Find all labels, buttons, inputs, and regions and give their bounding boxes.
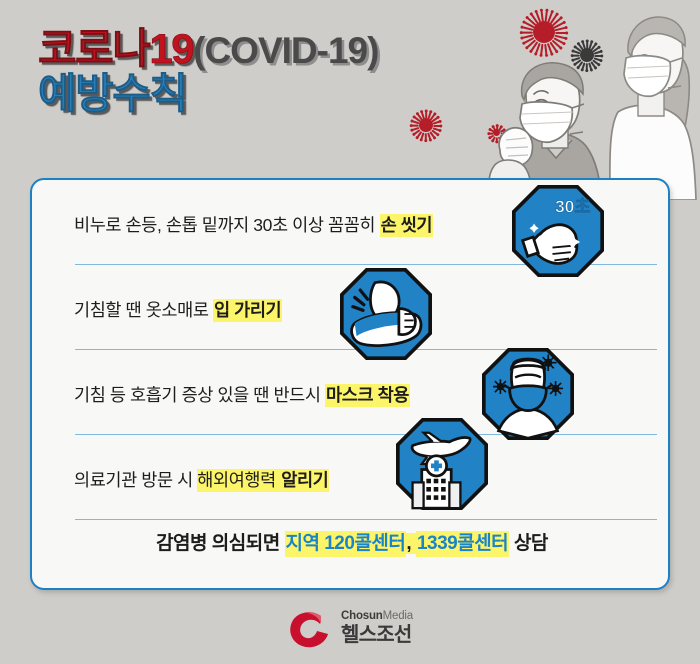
emergency-contact-line: 감염병 의심되면 지역 120콜센터, 1339콜센터 상담 bbox=[32, 528, 670, 555]
bottom-suffix: 상담 bbox=[509, 533, 548, 554]
rule-highlight: 입 가리기 bbox=[213, 299, 282, 322]
logo-media: Media bbox=[383, 610, 413, 622]
rule-text: 의료기관 방문 시 해외여행력 알리기 bbox=[74, 467, 329, 492]
virus-spike bbox=[425, 133, 427, 140]
rule-text: 비누로 손등, 손톱 밑까지 30초 이상 꼼꼼히 손 씻기 bbox=[74, 212, 433, 237]
rule-highlight-plain: 해외여행력 bbox=[197, 469, 280, 492]
title-korona19: 코로나19 bbox=[38, 25, 193, 72]
logo-brand-korean: 헬스조선 bbox=[341, 625, 413, 645]
rule-prefix: 기침할 땐 옷소매로 bbox=[74, 300, 213, 320]
face-mask-icon bbox=[482, 348, 574, 440]
call-separator: , bbox=[406, 533, 416, 554]
rule-text: 기침 등 호흡기 증상 있을 땐 반드시 마스크 착용 bbox=[74, 382, 410, 407]
call-center-120: 지역 120콜센터 bbox=[285, 531, 407, 557]
rule-text: 기침할 땐 옷소매로 입 가리기 bbox=[74, 297, 282, 322]
rule-prefix: 기침 등 호흡기 증상 있을 땐 반드시 bbox=[74, 385, 325, 405]
rule-separator bbox=[75, 519, 657, 520]
virus-spike bbox=[433, 125, 440, 127]
title-line-1: 코로나19(COVID-19) bbox=[38, 28, 378, 71]
hospital-airplane-icon bbox=[396, 418, 488, 510]
logo-brand-english: ChosunMedia bbox=[341, 611, 413, 623]
logo-text-block: ChosunMedia 헬스조선 bbox=[341, 611, 413, 645]
poster-title: 코로나19(COVID-19) 예방수칙 bbox=[38, 28, 378, 116]
rule-row: 의료기관 방문 시 해외여행력 알리기 bbox=[32, 441, 670, 526]
chosun-media-logo: ChosunMedia 헬스조선 bbox=[287, 608, 413, 648]
bottom-prefix: 감염병 의심되면 bbox=[156, 533, 284, 554]
rule-prefix: 의료기관 방문 시 bbox=[74, 470, 197, 490]
covid-prevention-poster: 코로나19(COVID-19) 예방수칙 비누로 손등, 손톱 밑까지 30초 … bbox=[0, 0, 700, 664]
chosun-c-swoosh-icon bbox=[287, 608, 333, 648]
rule-prefix: 비누로 손등, 손톱 밑까지 30초 이상 꼼꼼히 bbox=[74, 215, 380, 235]
rule-row: 기침 등 호흡기 증상 있을 땐 반드시 마스크 착용 bbox=[32, 356, 670, 441]
poster-header: 코로나19(COVID-19) 예방수칙 bbox=[0, 0, 700, 178]
title-prevention-rules: 예방수칙 bbox=[38, 70, 187, 117]
poster-footer: ChosunMedia 헬스조선 bbox=[0, 600, 700, 664]
rule-highlight: 손 씻기 bbox=[380, 214, 434, 237]
rule-highlight: 마스크 착용 bbox=[325, 384, 410, 407]
handwash-icon: 30초 bbox=[512, 185, 604, 277]
logo-chosun: Chosun bbox=[341, 610, 383, 622]
virus-spike bbox=[425, 111, 427, 118]
title-line-2: 예방수칙 bbox=[38, 73, 378, 116]
rule-highlight: 알리기 bbox=[280, 469, 329, 492]
cough-sleeve-icon bbox=[340, 268, 432, 360]
call-center-1339: 1339콜센터 bbox=[416, 531, 509, 557]
virus-particle-icon bbox=[413, 112, 439, 138]
title-covid19-paren: (COVID-19) bbox=[193, 30, 378, 71]
masked-people-illustration bbox=[486, 0, 700, 200]
badge-30sec: 30초 bbox=[555, 197, 591, 217]
virus-spike bbox=[411, 125, 418, 127]
